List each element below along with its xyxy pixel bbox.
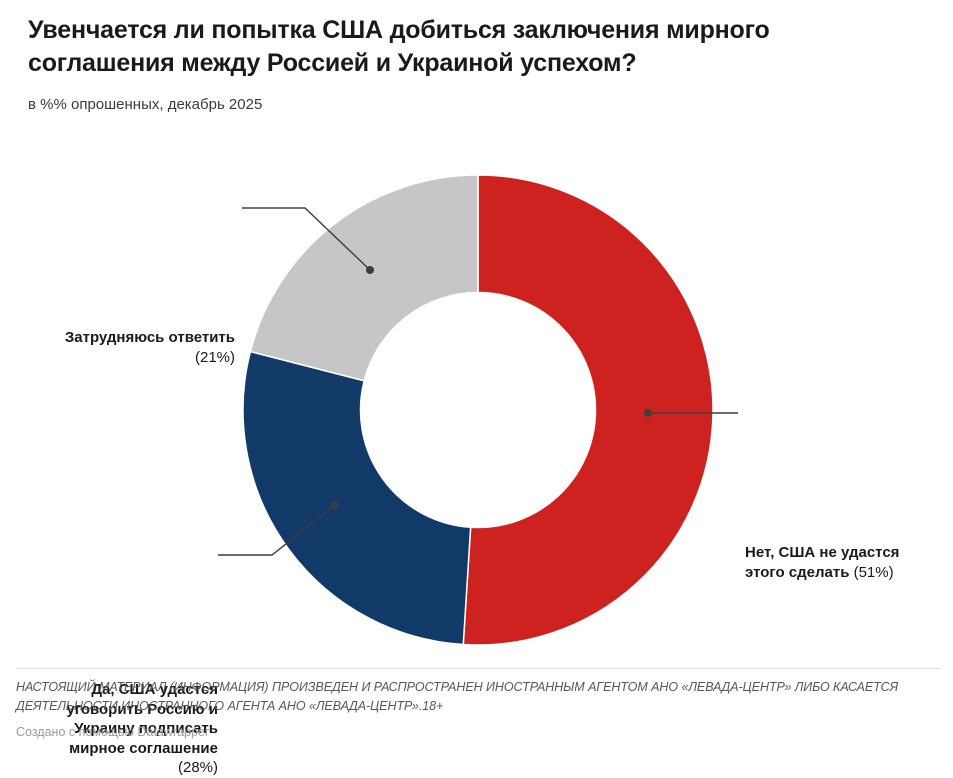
donut-slice-yes[interactable] [243,352,471,645]
slice-label-no-value: (51%) [854,564,894,581]
slice-label-yes-line4: мирное соглашение [69,740,218,757]
donut-chart: Затрудняюсь ответить (21%) Нет, США не у… [0,140,953,660]
slice-label-hard-text: Затрудняюсь ответить [65,329,235,346]
leader-dot-hard [366,266,374,274]
page-title: Увенчается ли попытка США добиться заклю… [28,14,918,80]
leader-dot-no [644,409,652,417]
chart-footer: НАСТОЯЩИЙ МАТЕРИАЛ (ИНФОРМАЦИЯ) ПРОИЗВЕД… [16,678,941,739]
leader-dot-yes [331,501,339,509]
chart-subtitle: в %% опрошенных, декабрь 2025 [28,95,918,115]
slice-label-no-line1: Нет, США не удастся [745,544,899,561]
foreign-agent-disclaimer: НАСТОЯЩИЙ МАТЕРИАЛ (ИНФОРМАЦИЯ) ПРОИЗВЕД… [16,678,941,717]
footer-divider [16,668,941,669]
slice-label-hard: Затрудняюсь ответить (21%) [20,328,235,367]
donut-slice-group [243,175,713,645]
donut-slice-hard[interactable] [250,175,478,381]
donut-chart-svg [0,140,953,660]
chart-header: Увенчается ли попытка США добиться заклю… [28,14,918,115]
datawrapper-credit: Создано с помощью Datawrapper [16,725,941,739]
slice-label-no-line2: этого сделать [745,564,849,581]
slice-label-hard-value: (21%) [195,349,235,366]
chart-page: Увенчается ли попытка США добиться заклю… [0,0,953,768]
slice-label-no: Нет, США не удастся этого сделать (51%) [745,543,945,582]
donut-slice-no[interactable] [463,175,713,645]
